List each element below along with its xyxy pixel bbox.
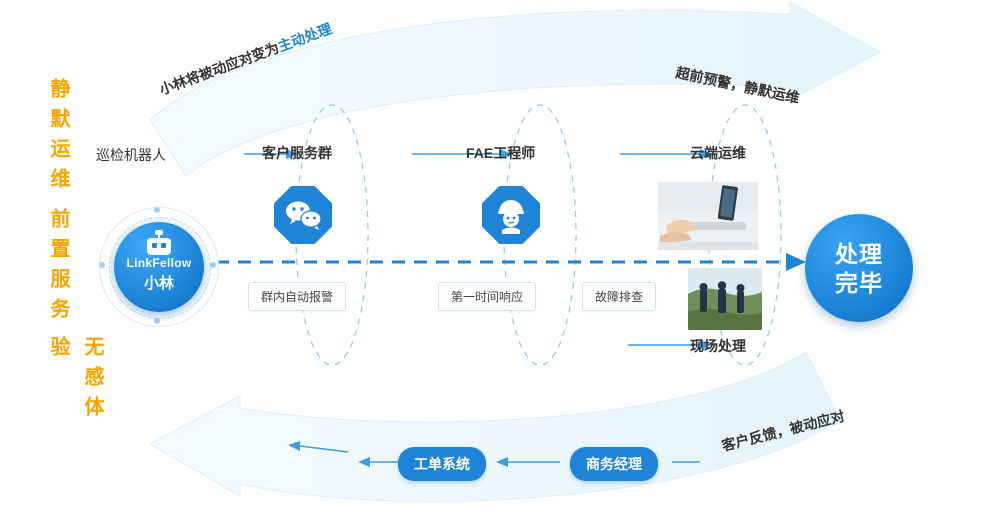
hub-cn-name: 小林 [100, 272, 218, 293]
diagram-canvas: 静默运维 前置服务 无感体验 LinkFellow 小林 处理 完毕 小林将被动… [0, 0, 1000, 526]
laptop-photo [658, 182, 758, 250]
node-sub-label-2: 第一时间响应 [438, 282, 536, 311]
node-title-2: FAE工程师 [466, 143, 535, 163]
field-handling-label: 现场处理 [690, 336, 746, 356]
result-text: 处理 完毕 [805, 240, 913, 298]
node-sub-label-3: 故障排查 [582, 282, 656, 311]
pill-business-manager[interactable]: 商务经理 [570, 447, 658, 481]
result-badge[interactable]: 处理 完毕 [805, 214, 913, 322]
hub-orbit-dot [154, 207, 160, 213]
field-team-photo [688, 268, 762, 330]
slogan-line-3: 无感体验 [42, 336, 110, 438]
pill-ticket-system[interactable]: 工单系统 [398, 447, 486, 481]
node-sub-label-1: 群内自动报警 [248, 282, 346, 311]
result-line-1: 处理 [805, 240, 913, 269]
node-title-1: 客户服务群 [262, 143, 332, 163]
slogan-block: 静默运维 前置服务 无感体验 [18, 78, 58, 438]
hub-en-name: LinkFellow [100, 256, 218, 270]
node-title-3: 云端运维 [690, 143, 746, 163]
slogan-line-2: 前置服务 [42, 208, 76, 328]
hub-orbit-dot [154, 318, 160, 324]
central-hub[interactable]: LinkFellow 小林 [100, 208, 218, 326]
engineer-icon[interactable] [482, 186, 540, 244]
flow-start-label: 巡检机器人 [96, 145, 166, 165]
result-line-2: 完毕 [805, 269, 913, 298]
hub-label: LinkFellow 小林 [100, 256, 218, 293]
wechat-icon[interactable] [274, 186, 332, 244]
slogan-line-1: 静默运维 [42, 78, 76, 198]
